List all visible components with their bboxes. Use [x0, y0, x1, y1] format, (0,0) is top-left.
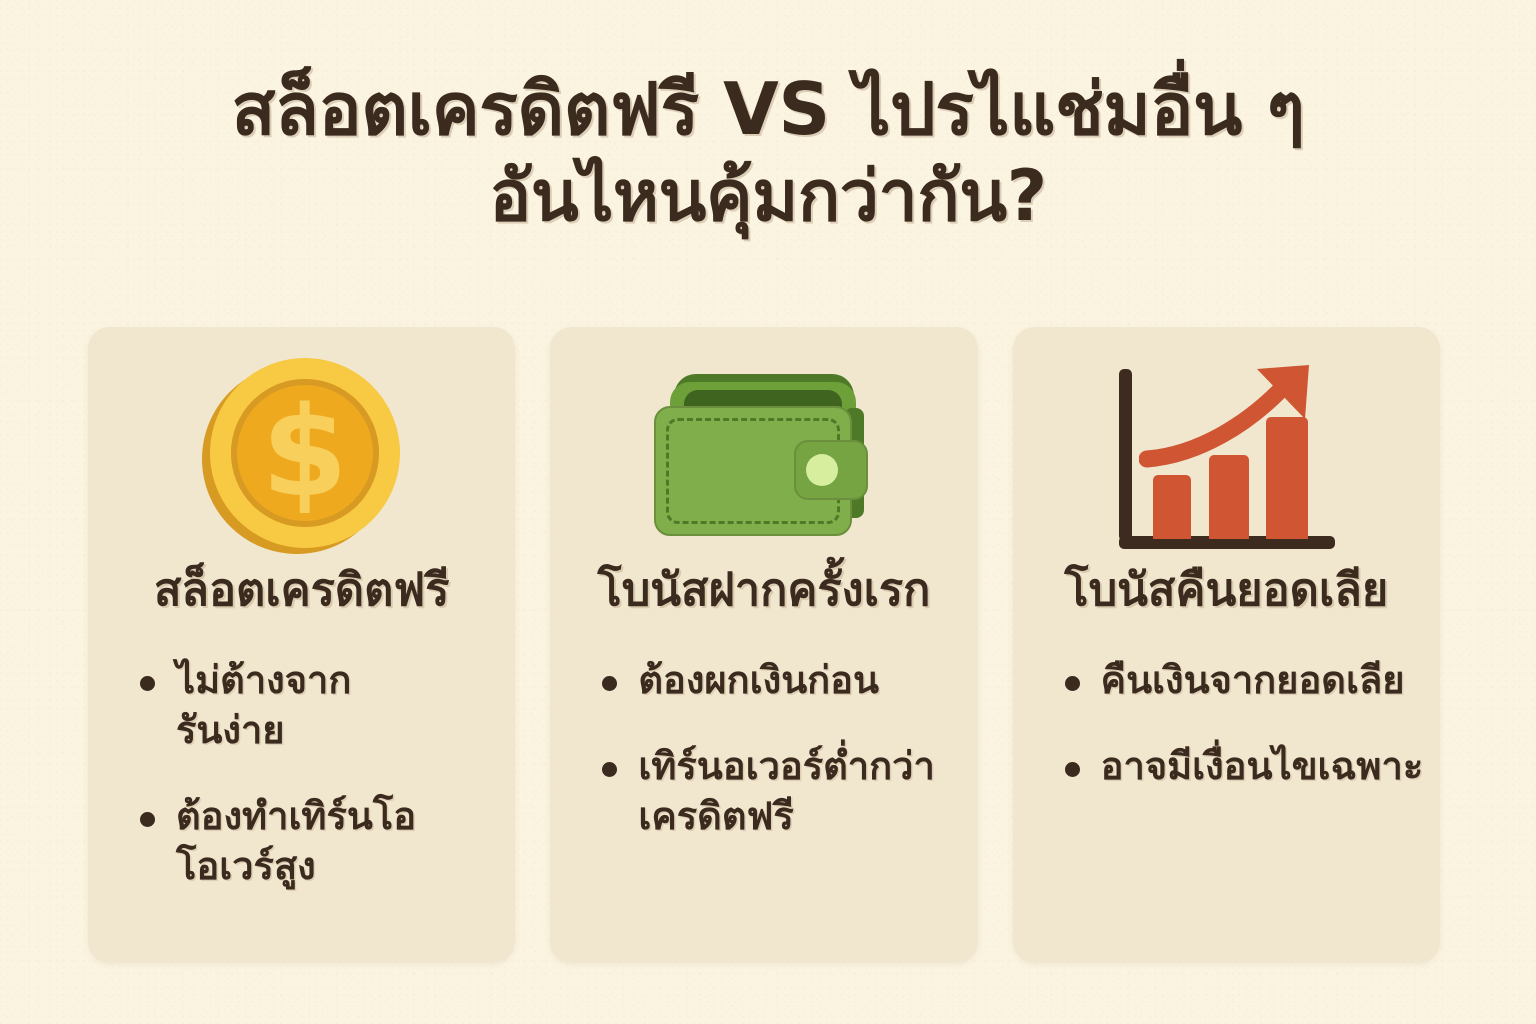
- title-line-1: สล็อตเครดิตฟรี VS ไปรไแช่มอื่น ๆ: [0, 66, 1536, 154]
- card-1-heading: สล็อตเครดิตฟรี: [154, 565, 449, 615]
- comparison-card-row: $ สล็อตเครดิตฟรี ไม่ต้างจาก รันง่าย ต้อง…: [88, 327, 1440, 963]
- card-2-icon-area: [554, 353, 973, 563]
- card-3-icon-area: [1017, 353, 1436, 563]
- wallet-clasp-stud: [806, 454, 838, 486]
- list-item: เทิร์นอเวอร์ต่ำกว่า เครดิตฟรี: [600, 741, 973, 841]
- gold-coin-dollar-icon: $: [202, 358, 402, 558]
- card-1-icon-area: $: [92, 353, 511, 563]
- list-item: ต้องทำเทิร์นโอ โอเวร์สูง: [138, 791, 511, 891]
- list-item: ไม่ต้างจาก รันง่าย: [138, 655, 511, 755]
- growth-bar-chart-icon: [1111, 363, 1341, 553]
- title-line-2: อันไหนคุ้มกว่ากัน?: [0, 154, 1536, 239]
- list-item: อาจมีเงื่อนไขเฉพาะ: [1063, 741, 1436, 791]
- card-cashback-bonus[interactable]: โบนัสคืนยอดเลีย คืนเงินจากยอดเลีย อาจมีเ…: [1013, 327, 1440, 963]
- card-2-heading: โบนัสฝากครั้งเรก: [598, 565, 931, 615]
- upward-trend-arrow-icon: [1139, 363, 1339, 473]
- card-slot-credit-free[interactable]: $ สล็อตเครดิตฟรี ไม่ต้างจาก รันง่าย ต้อง…: [88, 327, 515, 963]
- chart-bar-1: [1153, 475, 1191, 539]
- list-item: ต้องผกเงินก่อน: [600, 655, 973, 705]
- card-1-bullet-list: ไม่ต้างจาก รันง่าย ต้องทำเทิร์นโอ โอเวร์…: [92, 655, 511, 928]
- card-first-deposit-bonus[interactable]: โบนัสฝากครั้งเรก ต้องผกเงินก่อน เทิร์นอเ…: [550, 327, 977, 963]
- card-3-heading: โบนัสคืนยอดเลีย: [1064, 565, 1388, 615]
- dollar-sign-glyph: $: [231, 379, 379, 527]
- page-title: สล็อตเครดิตฟรี VS ไปรไแช่มอื่น ๆ อันไหนค…: [0, 66, 1536, 239]
- card-2-bullet-list: ต้องผกเงินก่อน เทิร์นอเวอร์ต่ำกว่า เครดิ…: [554, 655, 973, 877]
- list-item: คืนเงินจากยอดเลีย: [1063, 655, 1436, 705]
- card-3-bullet-list: คืนเงินจากยอดเลีย อาจมีเงื่อนไขเฉพาะ: [1017, 655, 1436, 827]
- green-wallet-icon: [648, 368, 880, 548]
- chart-y-axis: [1119, 369, 1132, 541]
